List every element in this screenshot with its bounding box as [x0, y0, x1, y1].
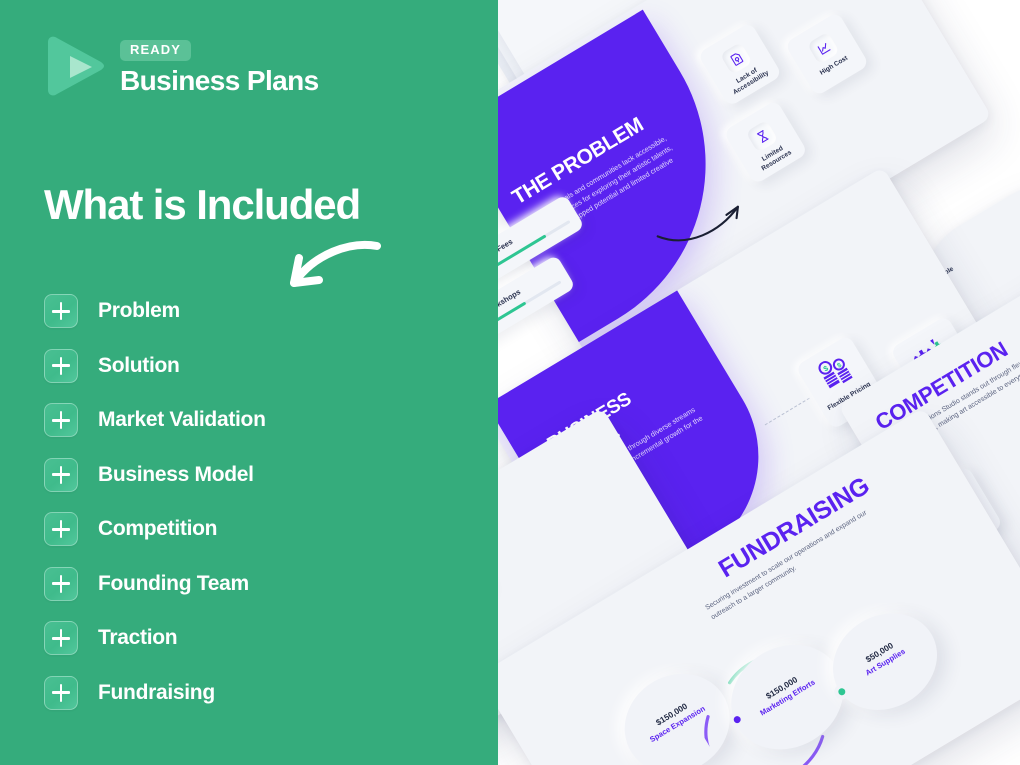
plus-icon[interactable] [44, 512, 78, 546]
left-green-panel: READY Business Plans What is Included Pr… [0, 0, 498, 765]
list-item[interactable]: Traction [44, 611, 464, 666]
list-item-label: Business Model [98, 463, 254, 487]
slide-collage-panel: THE PROBLEM Many individuals and communi… [498, 0, 1020, 765]
list-item-label: Founding Team [98, 572, 249, 596]
plus-icon[interactable] [44, 458, 78, 492]
list-item-label: Fundraising [98, 681, 215, 705]
brand-text-block: READY Business Plans [120, 36, 319, 95]
problem-card-1[interactable]: High Cost [784, 12, 869, 97]
list-item-label: Competition [98, 517, 217, 541]
list-item[interactable]: Founding Team [44, 557, 464, 612]
fundraising-ring-2-amount: $50,000 [830, 620, 928, 684]
plus-icon[interactable] [44, 567, 78, 601]
play-triangle-icon [44, 36, 106, 96]
business-model-dash-0 [765, 398, 810, 426]
list-item[interactable]: Business Model [44, 448, 464, 503]
brand-lockup: READY Business Plans [44, 36, 319, 96]
plus-icon[interactable] [44, 403, 78, 437]
list-item-label: Solution [98, 354, 180, 378]
traction-bar-card-1-track [498, 280, 561, 344]
plus-icon[interactable] [44, 349, 78, 383]
list-item-label: Traction [98, 626, 177, 650]
list-item[interactable]: Competition [44, 502, 464, 557]
plus-icon[interactable] [44, 676, 78, 710]
list-item[interactable]: Problem [44, 284, 464, 339]
list-item-label: Market Validation [98, 408, 266, 432]
slide-stage: THE PROBLEM Many individuals and communi… [498, 0, 1020, 765]
included-list: Problem Solution Market Validation Busin… [44, 284, 464, 720]
traction-bar-card-1-fill [498, 301, 526, 344]
page-title: What is Included [44, 183, 360, 227]
list-item-label: Problem [98, 299, 180, 323]
problem-card-2[interactable]: Limited Resources [723, 100, 808, 185]
fundraising-ring-1-label: Marketing Efforts [736, 664, 840, 731]
list-item[interactable]: Market Validation [44, 393, 464, 448]
ready-badge: READY [120, 40, 191, 61]
list-item[interactable]: Solution [44, 339, 464, 394]
plus-icon[interactable] [44, 294, 78, 328]
list-item[interactable]: Fundraising [44, 666, 464, 721]
brand-title: Business Plans [120, 66, 319, 95]
plus-icon[interactable] [44, 621, 78, 655]
traction-bar-card-2[interactable]: Monthly Visitors [498, 476, 526, 567]
